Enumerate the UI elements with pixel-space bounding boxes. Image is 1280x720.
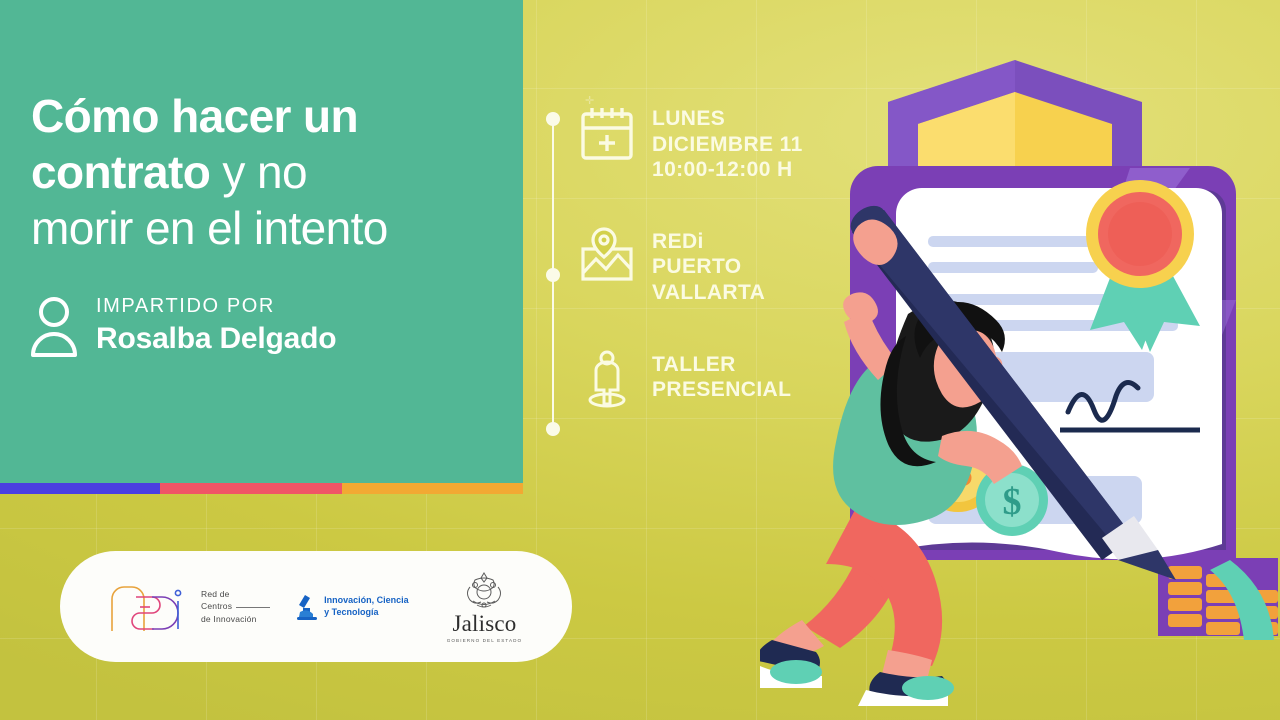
event-details-list: LUNES DICIEMBRE 11 10:00-12:00 H REDi: [580, 104, 880, 408]
jalisco-subtitle: GOBIERNO DEL ESTADO: [447, 638, 523, 643]
title-line-1: Cómo hacer un: [31, 90, 358, 142]
stripe-segment-blue: [0, 483, 160, 494]
standing-person-icon: [580, 350, 634, 408]
event-poster: ✛ ✛ ✛: [0, 0, 1280, 720]
detail-item-location: REDi PUERTO VALLARTA: [580, 227, 880, 306]
caption-rule: [236, 607, 270, 608]
timeline-dot: [546, 112, 560, 126]
detail-item-modality: TALLER PRESENCIAL: [580, 350, 880, 408]
ict-line-2: y Tecnología: [324, 607, 378, 617]
speaker-block: IMPARTIDO POR Rosalba Delgado: [30, 294, 336, 358]
speaker-name: Rosalba Delgado: [96, 320, 336, 358]
stripe-segment-pink: [160, 483, 342, 494]
accent-stripe: [0, 483, 523, 494]
redi-logo: Red de Centros de Innovación: [106, 581, 270, 633]
detail-line: DICIEMBRE 11: [652, 132, 803, 158]
redi-logo-icon: [106, 581, 192, 633]
person-icon: [30, 295, 78, 357]
ict-line-1: Innovación, Ciencia: [324, 595, 409, 605]
detail-line: PRESENCIAL: [652, 377, 791, 403]
title-line-3: morir en el intento: [31, 202, 388, 254]
svg-text:$: $: [1003, 481, 1022, 523]
timeline-dot: [546, 268, 560, 282]
jalisco-crest-icon: [461, 571, 507, 611]
ict-logo: Innovación, Ciencia y Tecnología: [296, 592, 409, 622]
calendar-plus-icon: [580, 104, 634, 162]
redi-caption-line1: Red de: [201, 589, 230, 599]
title-line-2-bold: contrato: [31, 146, 210, 198]
redi-caption-line3: de Innovación: [201, 614, 257, 624]
logo-bar: Red de Centros de Innovación Innovación,…: [60, 551, 572, 662]
detail-line: REDi: [652, 229, 765, 255]
detail-line: TALLER: [652, 352, 791, 378]
detail-text-location: REDi PUERTO VALLARTA: [652, 227, 765, 306]
detail-line: VALLARTA: [652, 280, 765, 306]
details-timeline: [546, 112, 560, 436]
jalisco-logo: Jalisco GOBIERNO DEL ESTADO: [447, 571, 523, 643]
speaker-label: IMPARTIDO POR: [96, 294, 336, 318]
jalisco-wordmark: Jalisco: [452, 612, 516, 635]
timeline-dot: [546, 422, 560, 436]
detail-text-date: LUNES DICIEMBRE 11 10:00-12:00 H: [652, 104, 803, 183]
title-line-2-light: y no: [210, 146, 307, 198]
redi-caption-line2: Centros: [201, 601, 232, 611]
page-title: Cómo hacer un contrato y no morir en el …: [31, 88, 501, 256]
detail-line: 10:00-12:00 H: [652, 157, 803, 183]
coin-stacks: [1158, 558, 1278, 640]
map-pin-icon: [580, 227, 634, 285]
detail-line: LUNES: [652, 106, 803, 132]
detail-line: PUERTO: [652, 254, 765, 280]
detail-item-date: LUNES DICIEMBRE 11 10:00-12:00 H: [580, 104, 880, 183]
stripe-segment-orange: [342, 483, 523, 494]
microscope-icon: [296, 592, 318, 622]
detail-text-modality: TALLER PRESENCIAL: [652, 350, 791, 403]
